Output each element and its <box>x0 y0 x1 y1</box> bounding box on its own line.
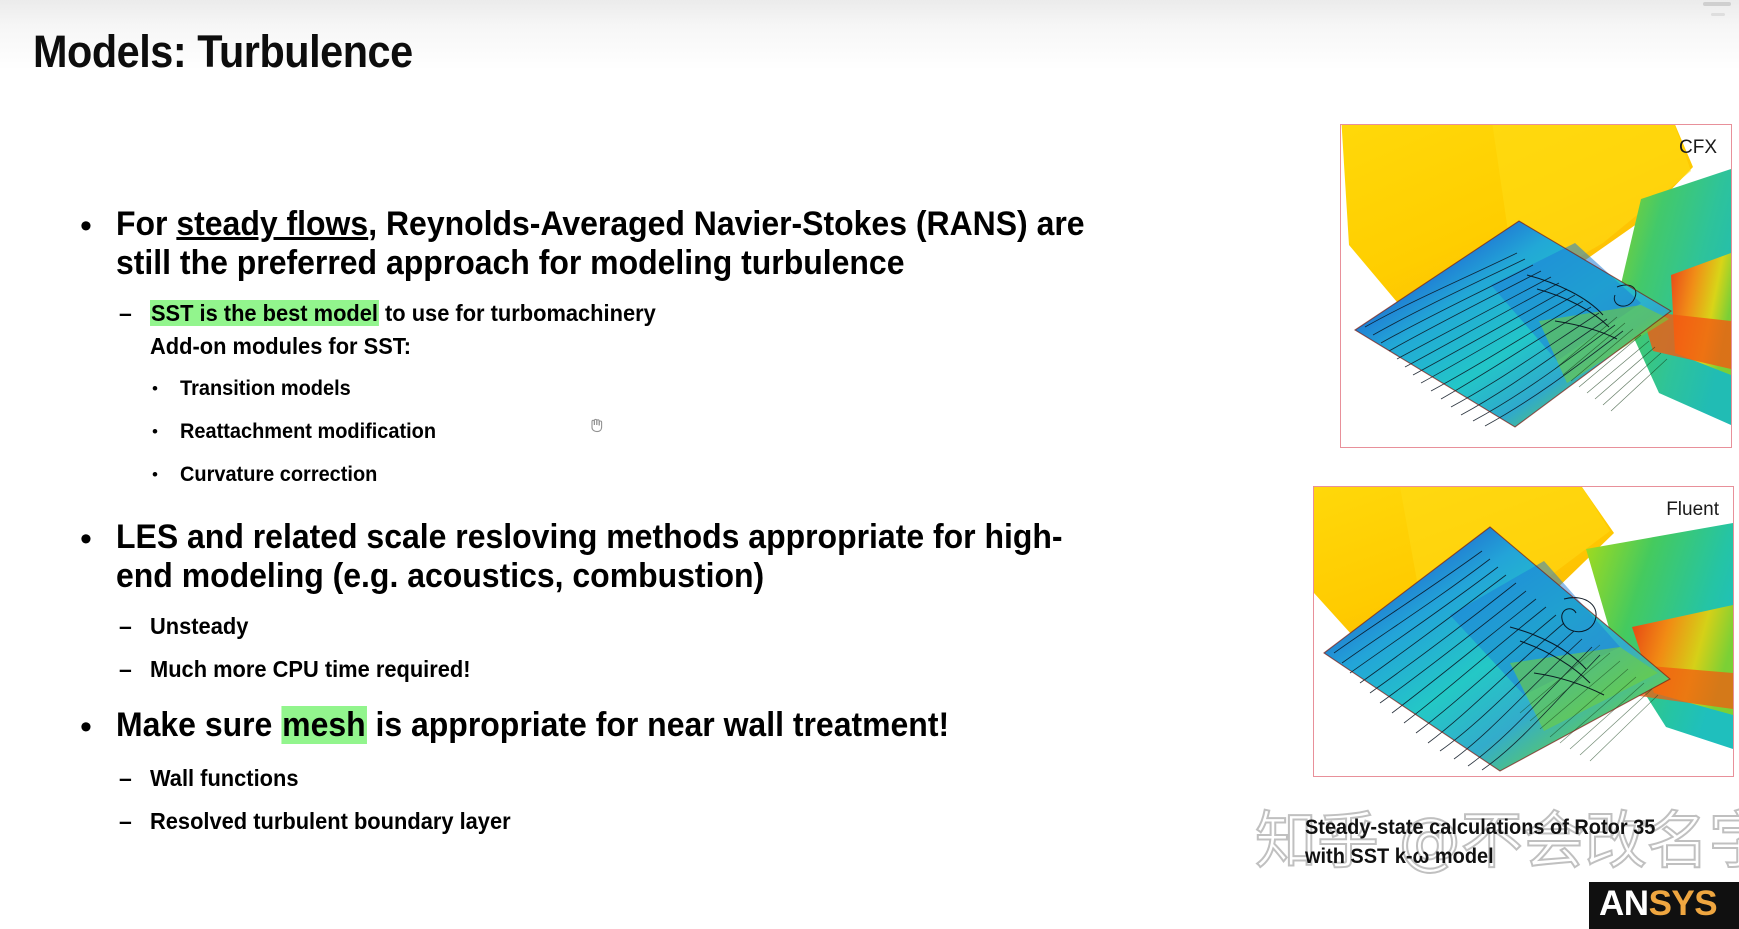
bullet-marker-dash: – <box>119 297 150 329</box>
bullet-rans-underlined: steady flows <box>176 205 368 243</box>
bullet-reattachment: • Reattachment modification <box>74 416 1164 447</box>
bullet-marker-small-dot: • <box>152 459 180 490</box>
spacer <box>74 643 1164 653</box>
cfd-contour-cfx: CFX <box>1340 124 1732 448</box>
figure-caption-line1: Steady-state calculations of Rotor 35 <box>1305 813 1714 842</box>
bullet-rans-part1: For <box>116 205 176 243</box>
bullet-addon-header-text: Add-on modules for SST: <box>150 330 1113 362</box>
bullet-resolved-bl-text: Resolved turbulent boundary layer <box>150 805 1113 837</box>
figure-caption-line2: with SST k-ω model <box>1305 842 1714 871</box>
bullet-transition-models: • Transition models <box>74 373 1164 404</box>
bullet-unsteady: – Unsteady <box>74 610 1164 642</box>
bullet-curvature: • Curvature correction <box>74 459 1164 490</box>
bullet-mesh-part1: Make sure <box>116 706 281 744</box>
bullet-marker-small-dot: • <box>152 373 180 404</box>
ansys-logo-part2: SYS <box>1649 884 1718 923</box>
bullet-wall-functions-text: Wall functions <box>150 762 1113 794</box>
spacer <box>74 600 1164 610</box>
ansys-logo: ANSYS <box>1589 882 1739 929</box>
scrollbar-thumb[interactable] <box>1703 2 1731 6</box>
spacer <box>74 795 1164 805</box>
bullet-sst-best-text: SST is the best model to use for turboma… <box>150 297 1113 329</box>
bullet-marker-small-dot: • <box>152 416 180 447</box>
figure-label-fluent: Fluent <box>1666 499 1719 521</box>
spacer <box>74 686 1164 706</box>
bullet-mesh-part2: is appropriate for near wall treatment! <box>367 706 950 744</box>
bullet-transition-models-text: Transition models <box>180 373 1115 404</box>
bullet-marker-dot: • <box>74 205 116 247</box>
bullet-les-text: LES and related scale resloving methods … <box>116 518 1101 596</box>
figure-label-cfx: CFX <box>1679 137 1717 159</box>
bullet-rans: • For steady flows, Reynolds-Averaged Na… <box>74 205 1164 283</box>
bullet-marker-dot: • <box>74 706 116 748</box>
bullet-mesh-text: Make sure mesh is appropriate for near w… <box>116 706 1101 745</box>
spacer <box>74 492 1164 518</box>
bullet-mesh: • Make sure mesh is appropriate for near… <box>74 706 1164 748</box>
bullet-marker-dot: • <box>74 518 116 560</box>
bullet-rans-text: For steady flows, Reynolds-Averaged Navi… <box>116 205 1101 283</box>
bullet-curvature-text: Curvature correction <box>180 459 1115 490</box>
highlight-mesh: mesh <box>281 706 366 744</box>
mouse-cursor-hand-icon <box>588 414 606 434</box>
highlight-sst-best-model: SST is the best model <box>150 300 379 326</box>
bullet-reattachment-text: Reattachment modification <box>180 416 1115 447</box>
bullet-unsteady-text: Unsteady <box>150 610 1113 642</box>
ansys-logo-part1: AN <box>1599 884 1649 923</box>
bullet-marker-dash: – <box>119 762 150 794</box>
bullet-cpu-time: – Much more CPU time required! <box>74 653 1164 685</box>
figure-caption: Steady-state calculations of Rotor 35 wi… <box>1305 813 1714 871</box>
bullet-marker-dash: – <box>119 610 150 642</box>
page-title: Models: Turbulence <box>33 26 413 78</box>
bullet-marker-dash: – <box>119 653 150 685</box>
bullet-marker-dash: – <box>119 805 150 837</box>
cfd-contour-cfx-graphic <box>1341 125 1731 447</box>
spacer <box>74 752 1164 762</box>
cfd-contour-fluent-graphic <box>1314 487 1733 776</box>
bullet-addon-header: Add-on modules for SST: <box>74 330 1164 362</box>
bullet-sst-best-rest: to use for turbomachinery <box>379 300 656 326</box>
spacer <box>74 449 1164 459</box>
slide-canvas: Models: Turbulence • For steady flows, R… <box>0 0 1739 929</box>
bullet-les: • LES and related scale resloving method… <box>74 518 1164 596</box>
scrollbar-track-mark <box>1711 13 1725 16</box>
ansys-logo-text: ANSYS <box>1599 884 1717 924</box>
bullet-sst-best: – SST is the best model to use for turbo… <box>74 297 1164 329</box>
slide-body: • For steady flows, Reynolds-Averaged Na… <box>74 205 1164 838</box>
bullet-resolved-bl: – Resolved turbulent boundary layer <box>74 805 1164 837</box>
spacer <box>74 287 1164 297</box>
bullet-wall-functions: – Wall functions <box>74 762 1164 794</box>
bullet-cpu-time-text: Much more CPU time required! <box>150 653 1113 685</box>
spacer <box>74 363 1164 373</box>
cfd-contour-fluent: Fluent <box>1313 486 1734 777</box>
spacer <box>74 406 1164 416</box>
